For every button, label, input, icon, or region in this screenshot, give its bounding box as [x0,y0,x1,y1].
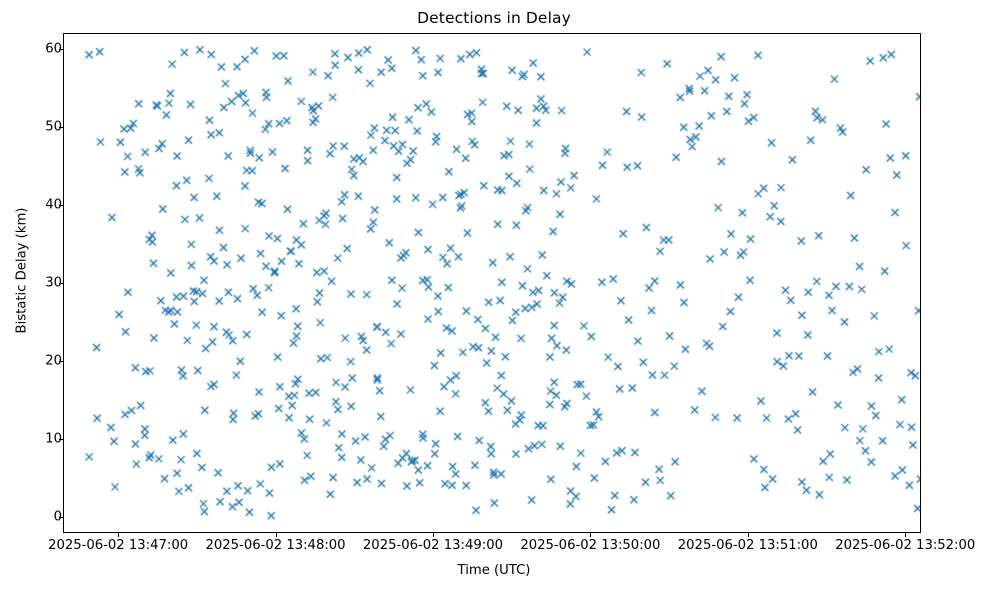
x-tick-mark [590,533,591,537]
x-tick-mark [905,533,906,537]
x-tick-label: 2025-06-02 13:50:00 [500,538,680,553]
y-tick-label: 20 [0,354,62,369]
y-tick-mark [59,283,63,284]
y-tick-label: 60 [0,41,62,56]
y-tick-label: 10 [0,432,62,447]
x-tick-label: 2025-06-02 13:52:00 [815,538,988,553]
y-tick-label: 30 [0,276,62,291]
y-tick-mark [59,127,63,128]
y-tick-mark [59,361,63,362]
y-tick-label: 0 [0,510,62,525]
y-tick-label: 40 [0,197,62,212]
x-tick-label: 2025-06-02 13:51:00 [658,538,838,553]
y-tick-mark [59,205,63,206]
y-tick-mark [59,49,63,50]
x-tick-mark [276,533,277,537]
x-tick-mark [118,533,119,537]
x-tick-label: 2025-06-02 13:49:00 [343,538,523,553]
y-tick-label: 50 [0,119,62,134]
x-tick-mark [433,533,434,537]
x-tick-label: 2025-06-02 13:47:00 [28,538,208,553]
matplotlib-figure: Detections in Delay Bistatic Delay (km) … [0,0,988,590]
x-axis-label: Time (UTC) [0,563,988,578]
x-tick-mark [748,533,749,537]
y-tick-mark [59,439,63,440]
y-tick-mark [59,517,63,518]
scatter-points-layer [64,34,921,533]
chart-title: Detections in Delay [0,9,988,27]
x-tick-label: 2025-06-02 13:48:00 [186,538,366,553]
plot-area [63,33,921,533]
